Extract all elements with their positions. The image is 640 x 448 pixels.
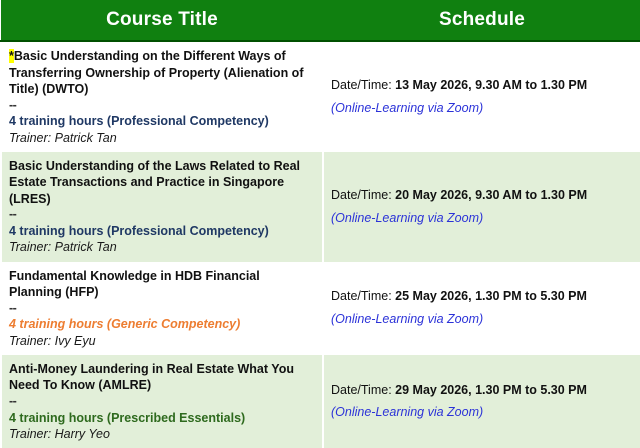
- schedule-delivery-mode: (Online-Learning via Zoom): [331, 311, 632, 328]
- schedule-datetime: Date/Time: 25 May 2026, 1.30 PM to 5.30 …: [331, 288, 632, 305]
- schedule-datetime: Date/Time: 29 May 2026, 1.30 PM to 5.30 …: [331, 382, 632, 399]
- schedule-datetime-value: 13 May 2026, 9.30 AM to 1.30 PM: [395, 78, 587, 92]
- table-row: Basic Understanding of the Laws Related …: [1, 152, 640, 262]
- table-body: *Basic Understanding on the Different Wa…: [1, 41, 640, 448]
- schedule-datetime-value: 29 May 2026, 1.30 PM to 5.30 PM: [395, 383, 587, 397]
- table-header-row: Course Title Schedule: [1, 0, 640, 41]
- course-name-text: Anti-Money Laundering in Real Estate Wha…: [9, 362, 294, 393]
- schedule-datetime: Date/Time: 13 May 2026, 9.30 AM to 1.30 …: [331, 77, 632, 94]
- schedule-datetime-value: 20 May 2026, 9.30 AM to 1.30 PM: [395, 188, 587, 202]
- trainer-label: Trainer: Patrick Tan: [9, 239, 314, 255]
- separator-dashes: --: [9, 208, 314, 222]
- schedule-datetime-label: Date/Time:: [331, 188, 392, 202]
- separator-dashes: --: [9, 395, 314, 409]
- trainer-label: Trainer: Harry Yeo: [9, 426, 314, 442]
- schedule-delivery-mode: (Online-Learning via Zoom): [331, 100, 632, 117]
- trainer-label: Trainer: Patrick Tan: [9, 130, 314, 146]
- course-name: Fundamental Knowledge in HDB Financial P…: [9, 268, 314, 301]
- table-header: Course Title Schedule: [1, 0, 640, 41]
- schedule-datetime-label: Date/Time:: [331, 383, 392, 397]
- separator-dashes: --: [9, 99, 314, 113]
- training-hours-label: 4 training hours (Professional Competenc…: [9, 113, 314, 129]
- table-row: Fundamental Knowledge in HDB Financial P…: [1, 262, 640, 355]
- schedule-cell: Date/Time: 20 May 2026, 9.30 AM to 1.30 …: [323, 152, 640, 262]
- schedule-delivery-mode: (Online-Learning via Zoom): [331, 210, 632, 227]
- column-header-course-title: Course Title: [1, 0, 323, 41]
- training-hours-label: 4 training hours (Generic Competency): [9, 316, 314, 332]
- schedule-datetime: Date/Time: 20 May 2026, 9.30 AM to 1.30 …: [331, 187, 632, 204]
- course-name-text: Fundamental Knowledge in HDB Financial P…: [9, 269, 260, 300]
- course-name-text: Basic Understanding on the Different Way…: [9, 49, 303, 96]
- schedule-delivery-mode: (Online-Learning via Zoom): [331, 404, 632, 421]
- table-row: *Basic Understanding on the Different Wa…: [1, 41, 640, 152]
- schedule-datetime-label: Date/Time:: [331, 78, 392, 92]
- training-hours-label: 4 training hours (Professional Competenc…: [9, 223, 314, 239]
- trainer-label: Trainer: Ivy Eyu: [9, 333, 314, 349]
- course-title-cell: *Basic Understanding on the Different Wa…: [1, 41, 323, 152]
- course-name-text: Basic Understanding of the Laws Related …: [9, 159, 300, 206]
- table-row: Anti-Money Laundering in Real Estate Wha…: [1, 355, 640, 448]
- schedule-cell: Date/Time: 29 May 2026, 1.30 PM to 5.30 …: [323, 355, 640, 448]
- course-schedule-table: Course Title Schedule *Basic Understandi…: [0, 0, 640, 448]
- course-name: Anti-Money Laundering in Real Estate Wha…: [9, 361, 314, 394]
- course-name: Basic Understanding of the Laws Related …: [9, 158, 314, 208]
- course-title-cell: Anti-Money Laundering in Real Estate Wha…: [1, 355, 323, 448]
- schedule-datetime-label: Date/Time:: [331, 289, 392, 303]
- course-name: *Basic Understanding on the Different Wa…: [9, 48, 314, 98]
- separator-dashes: --: [9, 302, 314, 316]
- schedule-cell: Date/Time: 25 May 2026, 1.30 PM to 5.30 …: [323, 262, 640, 355]
- column-header-schedule: Schedule: [323, 0, 640, 41]
- course-title-cell: Basic Understanding of the Laws Related …: [1, 152, 323, 262]
- training-hours-label: 4 training hours (Prescribed Essentials): [9, 410, 314, 426]
- schedule-datetime-value: 25 May 2026, 1.30 PM to 5.30 PM: [395, 289, 587, 303]
- schedule-cell: Date/Time: 13 May 2026, 9.30 AM to 1.30 …: [323, 41, 640, 152]
- course-title-cell: Fundamental Knowledge in HDB Financial P…: [1, 262, 323, 355]
